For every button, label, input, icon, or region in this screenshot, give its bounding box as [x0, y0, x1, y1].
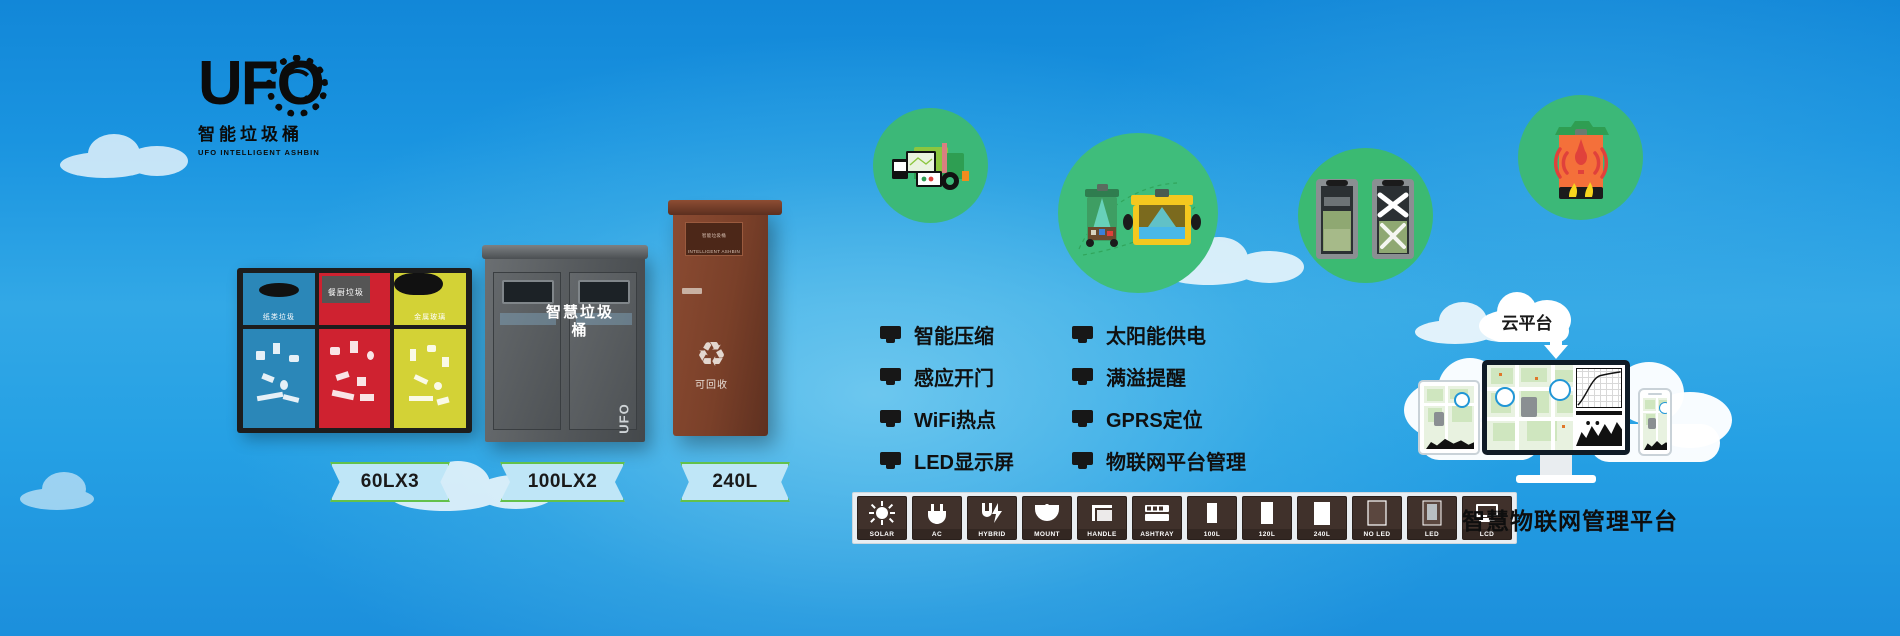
hybrid-power-icon — [968, 497, 1016, 529]
dashboard-screen — [1487, 365, 1625, 450]
bin-compartment-red: 餐厨垃圾 — [319, 273, 391, 428]
spec-item-solar: SOLAR — [857, 496, 907, 540]
area-chart — [1576, 418, 1622, 446]
product-bin-triple: 纸类垃圾 餐厨垃圾 — [237, 268, 472, 433]
spec-label: 240L — [1298, 529, 1346, 539]
map-panel — [1487, 365, 1573, 450]
sun-icon — [858, 497, 906, 529]
oval-slot-icon — [259, 283, 299, 297]
handle-icon — [1078, 497, 1126, 529]
monitor-base — [1516, 475, 1596, 483]
feature-label: 满溢提醒 — [1106, 362, 1186, 391]
spec-label: 100L — [1188, 529, 1236, 539]
feature-label: 感应开门 — [914, 362, 994, 391]
feature-label: WiFi热点 — [914, 404, 996, 433]
feature-circle-waste-compaction — [1298, 148, 1433, 283]
feature-column-right: 太阳能供电 满溢提醒 GPRS定位 物联网平台管理 — [1072, 320, 1246, 475]
feature-circle-fill-level-sensing — [1058, 133, 1218, 293]
desktop-monitor — [1482, 360, 1630, 455]
feature-list: 智能压缩 感应开门 WiFi热点 LED显示屏 太阳能供电 满溢提醒 — [880, 320, 1350, 475]
ashtray-icon — [1133, 497, 1181, 529]
no-led-icon — [1353, 497, 1401, 529]
monitor-icon — [1072, 326, 1093, 343]
feature-column-left: 智能压缩 感应开门 WiFi热点 LED显示屏 — [880, 320, 1014, 475]
monitor-icon — [1072, 452, 1093, 469]
platform-title: 智慧物联网管理平台 — [1410, 502, 1730, 536]
spec-item-handle: HANDLE — [1077, 496, 1127, 540]
feature-item: 太阳能供电 — [1072, 320, 1246, 349]
brand-logo: UFO 智能垃圾桶 UFO INTELLIGENT ASHBIN — [198, 52, 328, 152]
cloud-decoration — [20, 470, 140, 510]
feature-circle-fire-alarm — [1518, 95, 1643, 220]
spec-label: HYBRID — [968, 529, 1016, 539]
plug-icon — [913, 497, 961, 529]
spec-label: NO LED — [1353, 529, 1401, 539]
spec-item-100l: 100L — [1187, 496, 1237, 540]
bin-fire-alarm-icon — [1518, 95, 1643, 220]
spec-item-ac: AC — [912, 496, 962, 540]
ultrasonic-bin-sensor-icon — [1058, 133, 1218, 293]
garbage-truck-icon — [873, 108, 988, 223]
feature-item: 感应开门 — [880, 362, 1014, 391]
iot-platform-illustration — [1400, 340, 1730, 505]
panel-slot-icon: 餐厨垃圾 — [319, 273, 373, 306]
cloud-decoration — [60, 130, 210, 180]
analytics-panel — [1573, 365, 1625, 450]
card-reader-icon — [682, 288, 702, 294]
feature-item: 满溢提醒 — [1072, 362, 1246, 391]
bin-display-screen — [578, 280, 630, 304]
spec-item-mount: MOUNT — [1022, 496, 1072, 540]
bin-display-screen: 智能垃圾桶 INTELLIGENT ASHBIN — [685, 222, 743, 256]
spec-label: AC — [913, 529, 961, 539]
wall-mount-icon — [1023, 497, 1071, 529]
recycle-label: 可回收 — [673, 376, 750, 391]
bin-240l-icon — [1298, 497, 1346, 529]
spec-item-no-led: NO LED — [1352, 496, 1402, 540]
bin-door-left — [493, 272, 561, 430]
round-slot-icon — [394, 273, 443, 295]
smartphone-device — [1638, 388, 1672, 456]
capacity-badge-240l: 240L — [680, 462, 790, 502]
spec-item-ashtray: ASHTRAY — [1132, 496, 1182, 540]
compartment-label: 金属玻璃 — [394, 312, 466, 322]
logo-english-text: UFO INTELLIGENT ASHBIN — [198, 148, 328, 157]
feature-item: 智能压缩 — [880, 320, 1014, 349]
product-bin-brown: 智能垃圾桶 INTELLIGENT ASHBIN ♻ 可回收 — [673, 208, 768, 436]
feature-label: LED显示屏 — [914, 446, 1014, 475]
tablet-device — [1418, 380, 1480, 455]
feature-label: 智能压缩 — [914, 320, 994, 349]
capacity-badge-60lx3: 60LX3 — [330, 462, 450, 502]
logo-chinese-text: 智能垃圾桶 — [198, 120, 328, 145]
line-chart — [1576, 368, 1622, 408]
product-bin-dual: 智慧垃圾桶 UFO — [485, 252, 645, 442]
feature-label: 物联网平台管理 — [1106, 446, 1246, 475]
feature-item: LED显示屏 — [880, 446, 1014, 475]
bin-lid — [668, 200, 782, 215]
monitor-icon — [880, 368, 901, 385]
feature-item: GPRS定位 — [1072, 404, 1246, 433]
bin-display-screen — [502, 280, 554, 304]
bin-compartment-blue: 纸类垃圾 — [243, 273, 315, 428]
spec-item-120l: 120L — [1242, 496, 1292, 540]
bin-lid — [482, 245, 648, 259]
compartment-label: 纸类垃圾 — [243, 312, 315, 322]
compactor-bins-icon — [1298, 148, 1433, 283]
feature-label: GPRS定位 — [1106, 404, 1203, 433]
spec-label: SOLAR — [858, 529, 906, 539]
capacity-badge-100lx2: 100LX2 — [500, 462, 625, 502]
monitor-icon — [880, 410, 901, 427]
feature-item: WiFi热点 — [880, 404, 1014, 433]
spec-label: ASHTRAY — [1133, 529, 1181, 539]
bin-screen-line2: INTELLIGENT ASHBIN — [686, 249, 742, 255]
monitor-icon — [1072, 410, 1093, 427]
monitor-icon — [1072, 368, 1093, 385]
spec-item-240l: 240L — [1297, 496, 1347, 540]
dotted-ring-icon — [266, 55, 328, 117]
map-thumbnail — [1643, 398, 1667, 450]
compartment-label: 餐厨垃圾 — [322, 276, 370, 309]
bin-screen-line1: 智能垃圾桶 — [686, 233, 742, 239]
spec-item-hybrid: HYBRID — [967, 496, 1017, 540]
marketing-banner: UFO 智能垃圾桶 UFO INTELLIGENT ASHBIN 纸类垃圾 — [0, 0, 1900, 636]
monitor-icon — [880, 326, 901, 343]
monitor-icon — [880, 452, 901, 469]
spec-label: 120L — [1243, 529, 1291, 539]
spec-label: HANDLE — [1078, 529, 1126, 539]
monitor-stand — [1540, 455, 1572, 477]
feature-label: 太阳能供电 — [1106, 320, 1206, 349]
bin-100l-icon — [1188, 497, 1236, 529]
bin-120l-icon — [1243, 497, 1291, 529]
spec-label: MOUNT — [1023, 529, 1071, 539]
recycle-icon: ♻ — [673, 338, 750, 372]
bin-brand-side: UFO — [616, 403, 631, 433]
map-thumbnail — [1424, 386, 1474, 449]
feature-item: 物联网平台管理 — [1072, 446, 1246, 475]
bin-side-label: 智慧垃圾桶 — [545, 304, 615, 340]
progress-bar — [1576, 411, 1622, 415]
feature-circle-fleet-monitoring — [873, 108, 988, 223]
bin-compartment-yellow: 金属玻璃 — [394, 273, 466, 428]
